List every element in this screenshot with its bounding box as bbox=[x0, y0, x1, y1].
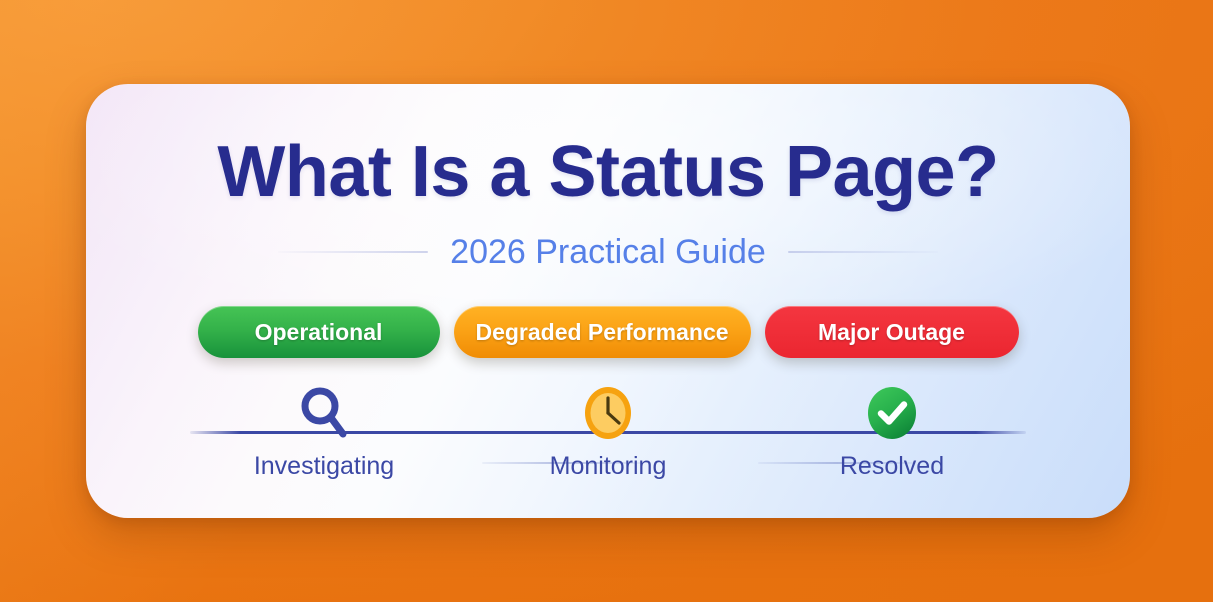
timeline-step-label-monitoring: Monitoring bbox=[550, 452, 667, 481]
status-pill-major-outage[interactable]: Major Outage bbox=[765, 306, 1019, 358]
timeline-steps: Investigating Monitoring bbox=[86, 384, 1130, 504]
timeline-step-investigating[interactable]: Investigating bbox=[182, 384, 466, 481]
page-subtitle: 2026 Practical Guide bbox=[450, 232, 766, 272]
subtitle-divider-left bbox=[278, 251, 428, 253]
timeline-step-monitoring[interactable]: Monitoring bbox=[466, 384, 750, 481]
page-title: What Is a Status Page? bbox=[86, 132, 1130, 212]
check-circle-icon bbox=[866, 384, 918, 442]
status-pill-degraded-performance[interactable]: Degraded Performance bbox=[454, 306, 751, 358]
status-pill-operational[interactable]: Operational bbox=[198, 306, 440, 358]
subtitle-row: 2026 Practical Guide bbox=[86, 232, 1130, 272]
timeline-step-label-resolved: Resolved bbox=[840, 452, 944, 481]
hero-card-content: What Is a Status Page? 2026 Practical Gu… bbox=[86, 84, 1130, 518]
clock-icon bbox=[583, 384, 633, 442]
timeline-step-label-investigating: Investigating bbox=[254, 452, 394, 481]
hero-card: What Is a Status Page? 2026 Practical Gu… bbox=[86, 84, 1130, 518]
magnifying-glass-icon bbox=[298, 384, 350, 442]
timeline-step-resolved[interactable]: Resolved bbox=[750, 384, 1034, 481]
incident-timeline: Investigating Monitoring bbox=[86, 384, 1130, 504]
subtitle-divider-right bbox=[788, 251, 938, 253]
status-pill-group: Operational Degraded Performance Major O… bbox=[86, 306, 1130, 358]
